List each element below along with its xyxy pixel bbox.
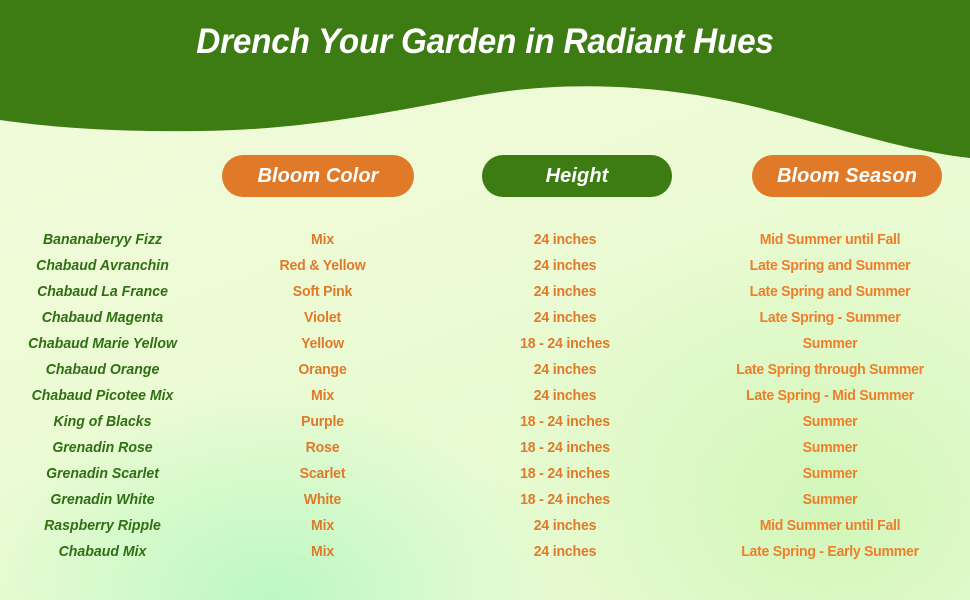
cell-bloom-color: Mix — [212, 517, 433, 534]
table-row: Chabaud La France Soft Pink 24 inches La… — [0, 278, 970, 304]
cell-height: 18 - 24 inches — [448, 439, 683, 456]
cell-variety-name: Grenadin Rose — [6, 439, 199, 456]
cell-bloom-season: Summer — [698, 335, 961, 352]
cell-bloom-color: Yellow — [212, 335, 433, 352]
cell-height: 24 inches — [448, 309, 683, 326]
table-row: Chabaud Avranchin Red & Yellow 24 inches… — [0, 252, 970, 278]
cell-variety-name: Chabaud Mix — [6, 543, 199, 560]
cell-variety-name: Chabaud Avranchin — [6, 257, 199, 274]
cell-height: 24 inches — [448, 517, 683, 534]
table-row: King of Blacks Purple 18 - 24 inches Sum… — [0, 408, 970, 434]
cell-height: 24 inches — [448, 283, 683, 300]
cell-bloom-season: Late Spring - Mid Summer — [698, 387, 961, 404]
table-row: Chabaud Magenta Violet 24 inches Late Sp… — [0, 304, 970, 330]
variety-table: Bananaberyy Fizz Mix 24 inches Mid Summe… — [0, 226, 970, 564]
cell-bloom-color: Scarlet — [212, 465, 433, 482]
cell-bloom-season: Late Spring through Summer — [698, 361, 961, 378]
cell-height: 24 inches — [448, 543, 683, 560]
cell-bloom-season: Late Spring and Summer — [698, 283, 961, 300]
cell-bloom-season: Summer — [698, 465, 961, 482]
cell-bloom-season: Mid Summer until Fall — [698, 517, 961, 534]
table-row: Grenadin Rose Rose 18 - 24 inches Summer — [0, 434, 970, 460]
cell-height: 18 - 24 inches — [448, 335, 683, 352]
cell-variety-name: Chabaud Picotee Mix — [6, 387, 199, 404]
cell-bloom-season: Summer — [698, 439, 961, 456]
cell-height: 18 - 24 inches — [448, 465, 683, 482]
cell-height: 24 inches — [448, 231, 683, 248]
table-row: Grenadin Scarlet Scarlet 18 - 24 inches … — [0, 460, 970, 486]
cell-height: 24 inches — [448, 257, 683, 274]
table-row: Chabaud Picotee Mix Mix 24 inches Late S… — [0, 382, 970, 408]
column-header-bloom-season[interactable]: Bloom Season — [752, 155, 942, 197]
cell-variety-name: Chabaud Magenta — [6, 309, 199, 326]
cell-bloom-season: Summer — [698, 491, 961, 508]
column-header-bloom-color[interactable]: Bloom Color — [222, 155, 414, 197]
cell-bloom-color: Red & Yellow — [212, 257, 433, 274]
infographic-page: Drench Your Garden in Radiant Hues Bloom… — [0, 0, 970, 600]
column-header-height-label: Height — [546, 165, 609, 188]
cell-variety-name: King of Blacks — [6, 413, 199, 430]
cell-bloom-color: Mix — [212, 231, 433, 248]
cell-bloom-season: Summer — [698, 413, 961, 430]
cell-bloom-color: Soft Pink — [212, 283, 433, 300]
cell-variety-name: Grenadin Scarlet — [6, 465, 199, 482]
cell-variety-name: Bananaberyy Fizz — [6, 231, 199, 248]
page-title: Drench Your Garden in Radiant Hues — [24, 22, 946, 62]
cell-variety-name: Grenadin White — [6, 491, 199, 508]
cell-bloom-season: Mid Summer until Fall — [698, 231, 961, 248]
table-row: Raspberry Ripple Mix 24 inches Mid Summe… — [0, 512, 970, 538]
cell-bloom-season: Late Spring - Summer — [698, 309, 961, 326]
cell-height: 24 inches — [448, 361, 683, 378]
cell-height: 18 - 24 inches — [448, 413, 683, 430]
cell-bloom-color: Violet — [212, 309, 433, 326]
column-header-bloom-color-label: Bloom Color — [257, 165, 378, 188]
cell-height: 18 - 24 inches — [448, 491, 683, 508]
table-row: Chabaud Mix Mix 24 inches Late Spring - … — [0, 538, 970, 564]
table-row: Chabaud Orange Orange 24 inches Late Spr… — [0, 356, 970, 382]
table-row: Chabaud Marie Yellow Yellow 18 - 24 inch… — [0, 330, 970, 356]
cell-bloom-color: Purple — [212, 413, 433, 430]
cell-variety-name: Chabaud La France — [6, 283, 199, 300]
cell-bloom-color: Mix — [212, 387, 433, 404]
cell-bloom-color: Mix — [212, 543, 433, 560]
cell-variety-name: Chabaud Orange — [6, 361, 199, 378]
table-row: Grenadin White White 18 - 24 inches Summ… — [0, 486, 970, 512]
column-header-row: Bloom Color Height Bloom Season — [0, 155, 970, 197]
cell-bloom-season: Late Spring and Summer — [698, 257, 961, 274]
cell-bloom-color: White — [212, 491, 433, 508]
cell-height: 24 inches — [448, 387, 683, 404]
cell-variety-name: Raspberry Ripple — [6, 517, 199, 534]
cell-bloom-color: Orange — [212, 361, 433, 378]
table-row: Bananaberyy Fizz Mix 24 inches Mid Summe… — [0, 226, 970, 252]
cell-variety-name: Chabaud Marie Yellow — [6, 335, 199, 352]
cell-bloom-color: Rose — [212, 439, 433, 456]
column-header-height[interactable]: Height — [482, 155, 672, 197]
column-header-bloom-season-label: Bloom Season — [777, 165, 917, 188]
cell-bloom-season: Late Spring - Early Summer — [698, 543, 961, 560]
